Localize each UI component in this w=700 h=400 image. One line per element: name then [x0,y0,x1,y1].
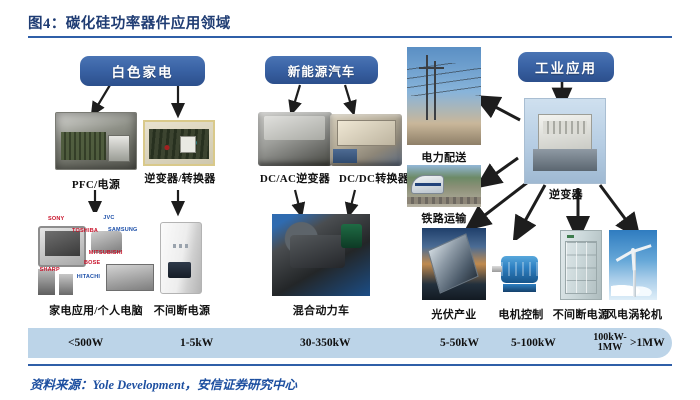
engine-bay-photo [272,214,370,296]
consumer-electronics-photo: SONY TOSHIBA JVC SHARP MITSUBISHI BOSE H… [36,212,156,298]
brand-mark: TOSHIBA [72,228,98,234]
brand-mark: SONY [48,216,64,222]
power-segment-label: 5-100kW [511,337,556,349]
node-label-ups-industrial: 不间断电源 [552,306,610,322]
node-label-pfc-power-supply: PFC/电源 [48,176,144,192]
circuit-board-photo [143,120,215,166]
transmission-pylon-photo [407,47,481,145]
power-segment-label: >1MW [630,337,665,349]
automotive-module-photo-dc [330,114,402,166]
brand-mark: HITACHI [77,274,100,280]
electric-motor-photo [489,240,553,300]
power-segment-label-stacked: 100kW-1MW [590,333,630,353]
category-label: 白色家电 [112,61,174,81]
node-label-pv-industry: 光伏产业 [418,306,490,322]
status-led-shape [567,235,574,238]
node-label-power-distribution: 电力配送 [406,149,482,165]
node-label-hybrid-vehicle: 混合动力车 [272,302,370,318]
source-note: 资料来源：Yole Development，安信证券研究中心 [30,374,297,393]
inverter-body-shape [538,114,592,151]
brand-mark: JVC [103,215,114,221]
brand-mark: MITSUBISHI [89,250,123,256]
category-box-industrial[interactable]: 工业应用 [518,52,614,82]
power-segment-label: <500W [68,337,103,349]
node-label-industrial-inverter: 逆变器 [530,186,602,202]
page-title: 图4：碳化硅功率器件应用领域 [28,12,231,33]
cabinet-panel-grid-shape [565,241,597,294]
motor-base-shape [503,284,536,291]
brand-mark: SHARP [40,267,60,273]
category-label: 工业应用 [535,57,597,77]
speaker-shape-2 [59,274,73,295]
turbine-hub-shape [631,248,635,253]
power-segment-label: 1-5kW [180,337,213,349]
ups-tower-photo [160,222,202,294]
locomotive-shape [411,175,444,193]
category-box-new-energy-vehicle[interactable]: 新能源汽车 [265,56,378,84]
node-label-ups-consumer: 不间断电源 [140,302,224,318]
application-domain-diagram: 白色家电 新能源汽车 工业应用 PFC/电源 逆变器/转换器 SONY TOSH… [0,40,700,360]
inverter-base-shape [533,149,597,171]
power-segment-line-1: 100kW-1MW [593,332,627,353]
motor-body-shape [501,256,538,284]
laptop-shape [106,264,154,292]
pylon-crossarm-shape [419,67,444,69]
footer-divider [28,364,672,366]
pylon-mast-shape-2 [434,61,436,120]
motor-shaft-shape [492,266,502,271]
node-label-wind-turbine: 风电涡轮机 [604,306,664,322]
power-segment-label: 30-350kW [300,337,350,349]
solar-panel-photo [422,228,486,300]
automotive-module-photo-ac [258,112,332,166]
brand-mark: BOSE [84,260,100,266]
power-scale-bar: <500W 1-5kW 30-350kW 5-50kW 5-100kW 100k… [28,328,672,358]
industrial-inverter-photo [524,98,606,184]
psu-photo [55,112,137,170]
title-divider [28,36,672,38]
node-label-inverter-converter: 逆变器/转换器 [136,170,224,186]
pv-module-shape [428,233,479,293]
pylon-mast-shape [426,55,428,120]
wind-turbine-photo [609,230,657,300]
node-label-motor-control: 电机控制 [489,306,553,322]
high-speed-train-photo [407,165,481,207]
node-label-rail-transport: 铁路运输 [406,210,482,226]
railway-track-shape [407,197,481,204]
turbine-blade-shape-2 [615,250,633,262]
category-label: 新能源汽车 [288,61,356,80]
brand-mark: SAMSUNG [108,227,138,233]
power-segment-label: 5-50kW [440,337,479,349]
turbine-blade-shape-1 [632,244,651,252]
category-box-white-goods[interactable]: 白色家电 [80,56,205,86]
ups-cabinet-photo [560,230,602,300]
